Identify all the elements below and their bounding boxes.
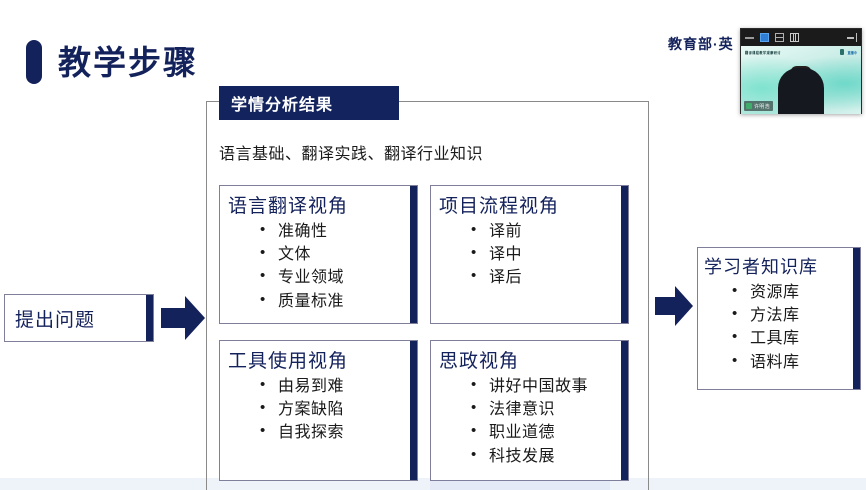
- list-item: 文体: [260, 243, 417, 266]
- node-raise-question-label: 提出问题: [5, 305, 95, 332]
- analysis-header-label: 学情分析结果: [231, 91, 333, 115]
- list-item: 职业道德: [471, 421, 628, 444]
- list-item: 准确性: [260, 220, 417, 243]
- card-accent-bar: [410, 341, 417, 480]
- participant-body: [778, 68, 824, 114]
- list-item: 方法库: [732, 304, 860, 327]
- card-title: 思政视角: [431, 341, 628, 375]
- card-accent-bar: [621, 341, 628, 480]
- card-bullet-list: 资源库 方法库 工具库 语料库: [698, 281, 860, 374]
- list-item: 讲好中国故事: [471, 375, 628, 398]
- list-item: 质量标准: [260, 290, 417, 313]
- card-title: 项目流程视角: [431, 186, 628, 220]
- page-title-text: 教学步骤: [58, 46, 198, 79]
- video-logo-text: 直播中: [847, 50, 857, 55]
- card-ideological-political-perspective: 思政视角 讲好中国故事 法律意识 职业道德 科技发展: [430, 340, 629, 481]
- minimize-icon[interactable]: [745, 33, 754, 42]
- arrow-right-icon: [655, 283, 693, 334]
- collapse-panel-icon[interactable]: [847, 33, 857, 42]
- node-raise-question: 提出问题: [4, 294, 154, 342]
- list-item: 由易到难: [260, 375, 417, 398]
- list-item: 译前: [471, 220, 628, 243]
- card-bullet-list: 讲好中国故事 法律意识 职业道德 科技发展: [431, 375, 628, 468]
- page-title: 教学步骤: [26, 40, 198, 84]
- video-window-titlebar[interactable]: [741, 29, 861, 46]
- list-item: 专业领域: [260, 266, 417, 289]
- video-overlay-window[interactable]: 翻译课程教学观摩研讨 直播中 许明浩: [740, 28, 862, 114]
- analysis-header-box: 学情分析结果: [219, 86, 399, 120]
- card-bullet-list: 准确性 文体 专业领域 质量标准: [220, 220, 417, 313]
- list-item: 科技发展: [471, 445, 628, 468]
- card-title: 语言翻译视角: [220, 186, 417, 220]
- card-accent-bar: [410, 186, 417, 323]
- card-title: 学习者知识库: [698, 248, 860, 281]
- brand-label: 教育部·英: [668, 34, 734, 54]
- card-bullet-list: 由易到难 方案缺陷 自我探索: [220, 375, 417, 445]
- card-project-process-perspective: 项目流程视角 译前 译中 译后: [430, 185, 629, 324]
- list-item: 自我探索: [260, 421, 417, 444]
- participant-name: 许明浩: [754, 103, 770, 110]
- list-item: 工具库: [732, 327, 860, 350]
- slide-canvas: 教学步骤 教育部·英 学情分析结果 语言基础、翻译实践、翻译行业知识 提出问题 …: [0, 0, 866, 490]
- video-logo: 直播中: [840, 49, 857, 55]
- list-item: 法律意识: [471, 398, 628, 421]
- grid-view-icon[interactable]: [790, 33, 799, 42]
- list-item: 译后: [471, 266, 628, 289]
- card-learner-knowledge-base: 学习者知识库 资源库 方法库 工具库 语料库: [697, 247, 861, 390]
- card-language-translation-perspective: 语言翻译视角 准确性 文体 专业领域 质量标准: [219, 185, 418, 324]
- participant-name-badge: 许明浩: [744, 101, 773, 111]
- logo-mark-icon: [840, 49, 844, 55]
- title-bullet-icon: [26, 40, 42, 84]
- list-item: 方案缺陷: [260, 398, 417, 421]
- microphone-icon: [746, 103, 752, 109]
- analysis-subtitle: 语言基础、翻译实践、翻译行业知识: [219, 140, 483, 164]
- card-bullet-list: 译前 译中 译后: [431, 220, 628, 290]
- video-overlay-title: 翻译课程教学观摩研讨: [745, 50, 781, 55]
- list-item: 语料库: [732, 351, 860, 374]
- speaker-view-icon[interactable]: [760, 33, 769, 42]
- card-title: 工具使用视角: [220, 341, 417, 375]
- list-item: 资源库: [732, 281, 860, 304]
- card-accent-bar: [621, 186, 628, 323]
- list-item: 译中: [471, 243, 628, 266]
- card-tool-usage-perspective: 工具使用视角 由易到难 方案缺陷 自我探索: [219, 340, 418, 481]
- arrow-right-icon: [161, 292, 205, 349]
- node-accent-bar: [146, 295, 153, 341]
- split-view-icon[interactable]: [775, 33, 784, 42]
- card-accent-bar: [853, 248, 860, 389]
- video-feed[interactable]: 翻译课程教学观摩研讨 直播中 许明浩: [741, 46, 861, 114]
